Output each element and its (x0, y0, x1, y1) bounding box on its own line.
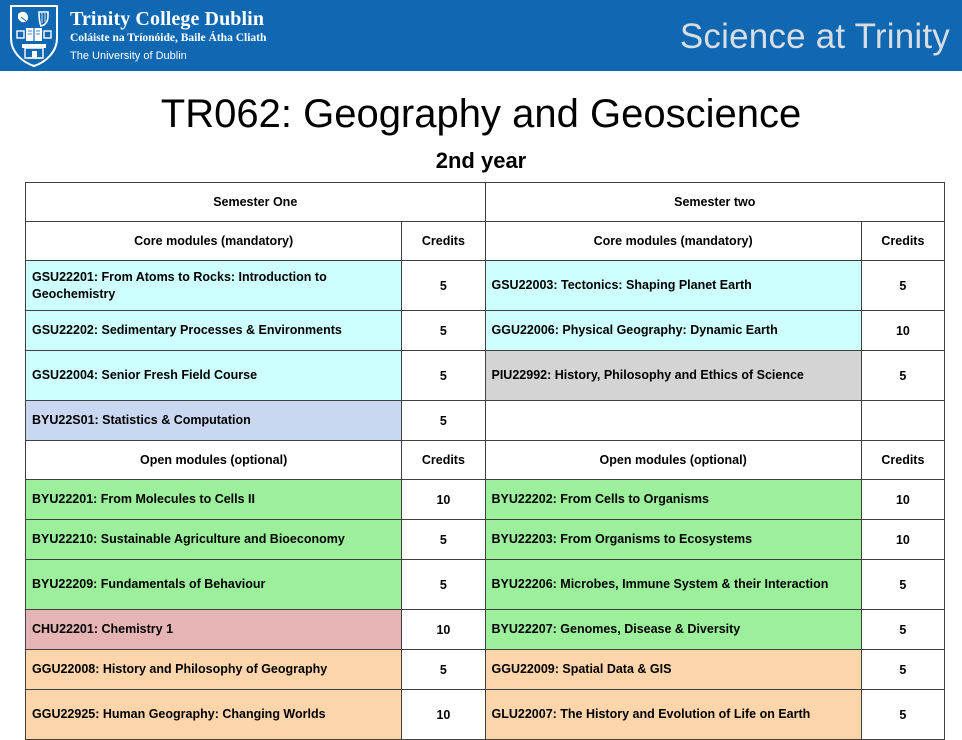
header-tagline: Science at Trinity (680, 17, 950, 57)
trinity-crest-icon (8, 4, 60, 68)
module-credits-cell: 5 (402, 650, 485, 690)
credits-label-left-open: Credits (402, 441, 485, 480)
module-name-cell[interactable]: GSU22202: Sedimentary Processes & Enviro… (26, 311, 402, 351)
module-name-cell[interactable]: BYU22207: Genomes, Disease & Diversity (485, 610, 861, 650)
credits-label-left-core: Credits (402, 222, 485, 261)
brand-title: Trinity College Dublin (70, 9, 266, 30)
module-name-cell[interactable]: BYU22203: From Organisms to Ecosystems (485, 520, 861, 560)
module-name-cell[interactable]: GSU22003: Tectonics: Shaping Planet Eart… (485, 261, 861, 311)
module-credits-cell: 5 (402, 261, 485, 311)
module-credits-cell: 10 (402, 690, 485, 740)
table-row: GGU22008: History and Philosophy of Geog… (26, 650, 945, 690)
trinity-brand-text: Trinity College Dublin Coláiste na Tríon… (70, 4, 266, 63)
module-name-cell[interactable]: BYU22206: Microbes, Immune System & thei… (485, 560, 861, 610)
semester-header-row: Semester One Semester two (26, 183, 945, 222)
semester-two-header: Semester two (485, 183, 945, 222)
modules-table: Semester One Semester two Core modules (… (25, 182, 945, 740)
module-credits-cell: 10 (861, 480, 944, 520)
module-credits-cell: 5 (861, 351, 944, 401)
open-modules-label-left: Open modules (optional) (26, 441, 402, 480)
trinity-branding: Trinity College Dublin Coláiste na Tríon… (8, 4, 266, 68)
module-name-cell[interactable]: PIU22992: History, Philosophy and Ethics… (485, 351, 861, 401)
table-row: GSU22201: From Atoms to Rocks: Introduct… (26, 261, 945, 311)
open-section-header-row: Open modules (optional) Credits Open mod… (26, 441, 945, 480)
table-row: CHU22201: Chemistry 1 10 BYU22207: Genom… (26, 610, 945, 650)
module-credits-cell: 5 (402, 520, 485, 560)
table-row: BYU22201: From Molecules to Cells II 10 … (26, 480, 945, 520)
core-section-header-row: Core modules (mandatory) Credits Core mo… (26, 222, 945, 261)
table-row: GSU22202: Sedimentary Processes & Enviro… (26, 311, 945, 351)
module-name-cell[interactable]: GGU22009: Spatial Data & GIS (485, 650, 861, 690)
empty-credits-cell (861, 401, 944, 441)
site-header-bar: Trinity College Dublin Coláiste na Tríon… (0, 0, 962, 73)
core-modules-label-left: Core modules (mandatory) (26, 222, 402, 261)
semester-one-header: Semester One (26, 183, 486, 222)
module-credits-cell: 5 (861, 650, 944, 690)
module-name-cell[interactable]: GGU22008: History and Philosophy of Geog… (26, 650, 402, 690)
module-credits-cell: 5 (402, 401, 485, 441)
module-name-cell[interactable]: BYU22202: From Cells to Organisms (485, 480, 861, 520)
module-credits-cell: 5 (861, 690, 944, 740)
module-credits-cell: 10 (402, 610, 485, 650)
page-title: TR062: Geography and Geoscience (0, 93, 962, 135)
module-name-cell[interactable]: GLU22007: The History and Evolution of L… (485, 690, 861, 740)
module-name-cell[interactable]: BYU22209: Fundamentals of Behaviour (26, 560, 402, 610)
empty-module-cell (485, 401, 861, 441)
table-row: BYU22210: Sustainable Agriculture and Bi… (26, 520, 945, 560)
module-name-cell[interactable]: GGU22925: Human Geography: Changing Worl… (26, 690, 402, 740)
module-name-cell[interactable]: BYU22S01: Statistics & Computation (26, 401, 402, 441)
module-name-cell[interactable]: GSU22004: Senior Fresh Field Course (26, 351, 402, 401)
brand-subtitle: The University of Dublin (70, 49, 266, 64)
page-subtitle: 2nd year (0, 148, 962, 174)
module-credits-cell: 10 (861, 520, 944, 560)
table-row: GSU22004: Senior Fresh Field Course 5 PI… (26, 351, 945, 401)
table-row: GGU22925: Human Geography: Changing Worl… (26, 690, 945, 740)
module-credits-cell: 10 (861, 311, 944, 351)
module-credits-cell: 5 (861, 261, 944, 311)
module-name-cell[interactable]: BYU22201: From Molecules to Cells II (26, 480, 402, 520)
module-credits-cell: 5 (402, 311, 485, 351)
module-name-cell[interactable]: CHU22201: Chemistry 1 (26, 610, 402, 650)
table-row: BYU22S01: Statistics & Computation 5 (26, 401, 945, 441)
module-name-cell[interactable]: GSU22201: From Atoms to Rocks: Introduct… (26, 261, 402, 311)
module-credits-cell: 5 (402, 560, 485, 610)
credits-label-right-core: Credits (861, 222, 944, 261)
module-credits-cell: 5 (861, 610, 944, 650)
module-credits-cell: 5 (402, 351, 485, 401)
module-credits-cell: 5 (861, 560, 944, 610)
credits-label-right-open: Credits (861, 441, 944, 480)
module-credits-cell: 10 (402, 480, 485, 520)
module-name-cell[interactable]: GGU22006: Physical Geography: Dynamic Ea… (485, 311, 861, 351)
table-row: BYU22209: Fundamentals of Behaviour 5 BY… (26, 560, 945, 610)
brand-irish-name: Coláiste na Tríonóide, Baile Átha Cliath (70, 31, 266, 47)
module-name-cell[interactable]: BYU22210: Sustainable Agriculture and Bi… (26, 520, 402, 560)
open-modules-label-right: Open modules (optional) (485, 441, 861, 480)
core-modules-label-right: Core modules (mandatory) (485, 222, 861, 261)
